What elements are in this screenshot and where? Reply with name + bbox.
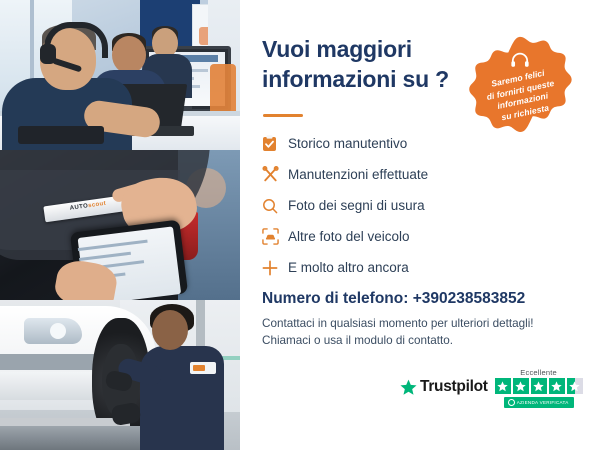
star-filled — [495, 378, 511, 394]
feature-item-foto-usura: Foto dei segni di usura — [262, 190, 562, 221]
contact-line-1: Contattaci in qualsiasi momento per ulte… — [262, 316, 582, 333]
photo-call-center — [0, 0, 240, 150]
tools-cross-icon — [262, 164, 288, 186]
contact-paragraph: Contattaci in qualsiasi momento per ulte… — [262, 316, 582, 349]
magnifier-icon — [262, 195, 288, 217]
trustpilot-widget[interactable]: Trustpilot Eccellente — [400, 368, 590, 418]
gauge-label: AUTOscout — [69, 201, 106, 212]
rating-label: Eccellente — [520, 368, 557, 377]
photo-panel-measurement: AUTOscout — [0, 150, 240, 300]
callout-badge: Saremo felici di fornirti queste informa… — [468, 36, 572, 140]
title-underline — [263, 114, 303, 117]
uniform-logo — [190, 362, 216, 374]
page-title: Vuoi maggiori informazioni su ? — [262, 34, 472, 94]
phone-number[interactable]: Numero di telefono: +390238583852 — [262, 290, 525, 308]
feature-label: E molto altro ancora — [288, 260, 409, 275]
star-rating — [495, 378, 583, 394]
content-panel: Vuoi maggiori informazioni su ? Saremo f… — [240, 0, 600, 450]
trustpilot-star-icon — [400, 379, 417, 396]
star-partial — [567, 378, 583, 394]
feature-label: Manutenzioni effettuate — [288, 167, 428, 182]
star-filled — [549, 378, 565, 394]
promo-banner: AUTOscout — [0, 0, 600, 450]
feature-item-storico: Storico manutentivo — [262, 128, 562, 159]
keyboard — [18, 126, 104, 144]
feature-label: Altre foto del veicolo — [288, 229, 410, 244]
verified-check-icon — [508, 399, 515, 406]
second-operator-head — [112, 36, 146, 74]
photo-mechanic-inspection — [0, 300, 240, 450]
feature-label: Storico manutentivo — [288, 136, 407, 151]
star-filled — [531, 378, 547, 394]
car-scan-icon — [262, 226, 288, 248]
car-headlight — [24, 318, 82, 344]
clipboard-check-icon — [262, 133, 288, 155]
plus-icon — [262, 257, 288, 279]
photo-column: AUTOscout — [0, 0, 240, 450]
car-grille — [0, 354, 106, 370]
verified-badge: AZIENDA VERIFICATA — [504, 397, 574, 408]
verified-label: AZIENDA VERIFICATA — [517, 400, 569, 405]
trustpilot-logo: Trustpilot — [400, 378, 488, 396]
contact-line-2: Chiamaci o usa il modulo di contatto. — [262, 333, 582, 350]
feature-list: Storico manutentivo Manutenzioni effettu… — [262, 128, 562, 283]
feature-label: Foto dei segni di usura — [288, 198, 425, 213]
car-lift-platform — [0, 426, 150, 450]
trustpilot-rating: Eccellente — [495, 368, 583, 408]
feature-item-altro: E molto altro ancora — [262, 252, 562, 283]
lift-arm — [0, 418, 130, 426]
feature-item-manutenzioni: Manutenzioni effettuate — [262, 159, 562, 190]
trustpilot-name: Trustpilot — [420, 378, 488, 396]
feature-item-altre-foto: Altre foto del veicolo — [262, 221, 562, 252]
mechanic-head — [152, 310, 188, 350]
star-filled — [513, 378, 529, 394]
